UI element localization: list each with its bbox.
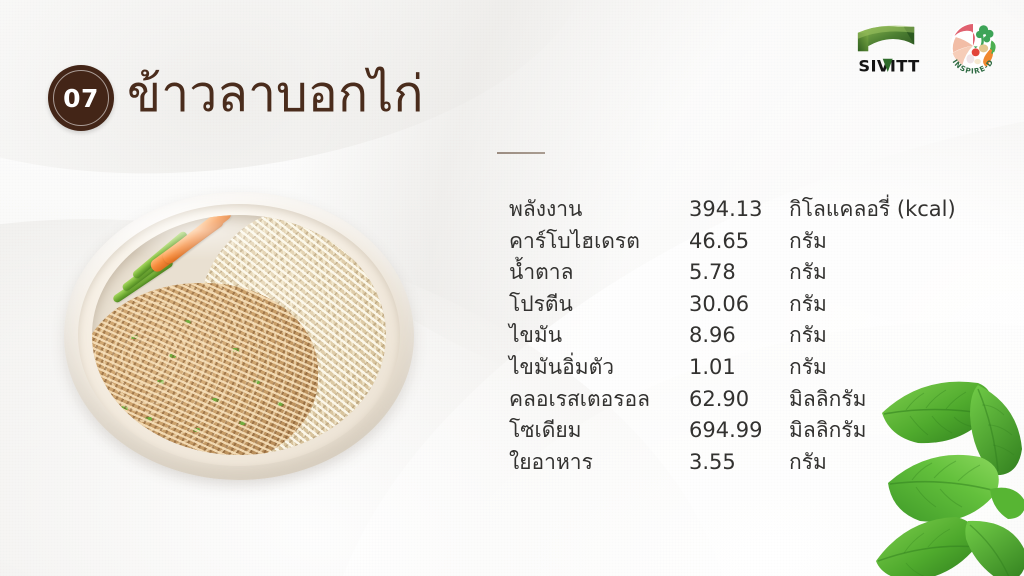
inspired-logo: INSPIRE-D [940, 18, 1006, 77]
nutrient-label: พลังงาน [509, 197, 689, 222]
slide-number-text: 07 [63, 86, 99, 111]
nutrient-value: 46.65 [689, 229, 789, 254]
nutrient-label: คลอเรสเตอรอล [509, 387, 689, 412]
nutrient-label: โปรตีน [509, 292, 689, 317]
nutrient-unit: กรัม [789, 260, 1009, 285]
slide-number-badge: 07 [48, 65, 114, 131]
nutrient-label: โซเดียม [509, 418, 689, 443]
table-row: คาร์โบไฮเดรต 46.65 กรัม [509, 229, 1009, 261]
nutrition-table: พลังงาน 394.13 กิโลแคลอรี่ (kcal) คาร์โบ… [509, 197, 1009, 481]
table-row: น้ำตาล 5.78 กรัม [509, 260, 1009, 292]
table-row: ไขมัน 8.96 กรัม [509, 323, 1009, 355]
table-row: ไขมันอิ่มตัว 1.01 กรัม [509, 355, 1009, 387]
table-row: ใยอาหาร 3.55 กรัม [509, 450, 1009, 482]
nutrient-value: 394.13 [689, 197, 789, 222]
page-title: ข้าวลาบอกไก่ [127, 63, 424, 126]
nutrient-unit: กรัม [789, 292, 1009, 317]
nutrient-label: ไขมัน [509, 323, 689, 348]
nutrient-value: 694.99 [689, 418, 789, 443]
nutrient-value: 8.96 [689, 323, 789, 348]
minced-chicken-larb [92, 283, 318, 455]
logo-group: SIVITT [852, 18, 1006, 77]
nutrient-value: 5.78 [689, 260, 789, 285]
table-row: คลอเรสเตอรอล 62.90 มิลลิกรัม [509, 387, 1009, 419]
slide-root: 07 ข้าวลาบอกไก่ SIVI [0, 0, 1024, 576]
food-bowl-photo [58, 188, 420, 484]
nutrient-value: 30.06 [689, 292, 789, 317]
nutrient-value: 62.90 [689, 387, 789, 412]
table-row: โปรตีน 30.06 กรัม [509, 292, 1009, 324]
nutrient-unit: กรัม [789, 355, 1009, 380]
nutrient-label: ไขมันอิ่มตัว [509, 355, 689, 380]
table-row: พลังงาน 394.13 กิโลแคลอรี่ (kcal) [509, 197, 1009, 229]
nutrient-value: 3.55 [689, 450, 789, 475]
nutrient-unit: กรัม [789, 323, 1009, 348]
table-row: โซเดียม 694.99 มิลลิกรัม [509, 418, 1009, 450]
nutrient-label: น้ำตาล [509, 260, 689, 285]
nutrient-unit: มิลลิกรัม [789, 387, 1009, 412]
nutrient-unit: มิลลิกรัม [789, 418, 1009, 443]
nutrient-value: 1.01 [689, 355, 789, 380]
bowl-contents [92, 215, 386, 455]
sivitt-logo: SIVITT [852, 18, 926, 77]
nutrient-unit: กรัม [789, 450, 1009, 475]
nutrient-label: คาร์โบไฮเดรต [509, 229, 689, 254]
nutrient-label: ใยอาหาร [509, 450, 689, 475]
title-divider [497, 152, 545, 154]
nutrient-unit: กิโลแคลอรี่ (kcal) [789, 197, 1009, 222]
nutrient-unit: กรัม [789, 229, 1009, 254]
